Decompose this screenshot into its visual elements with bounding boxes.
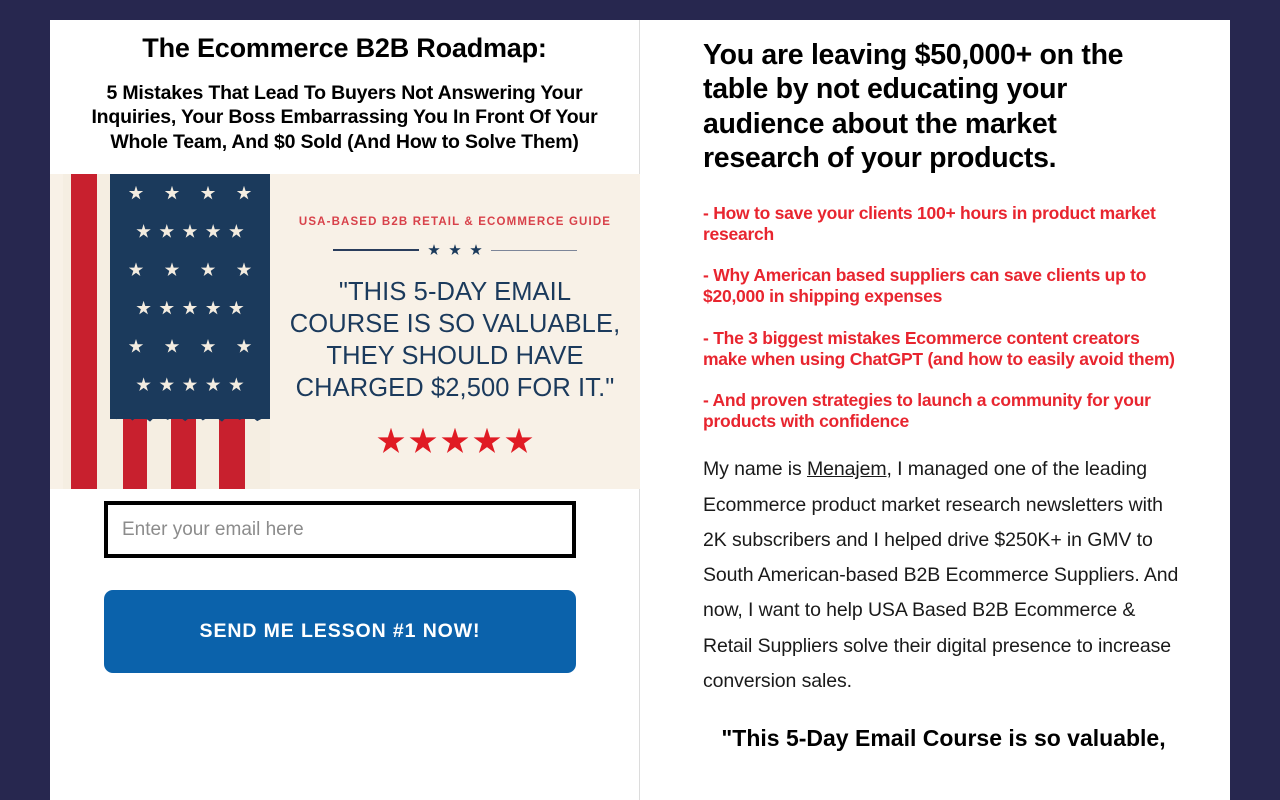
red-star-icon xyxy=(377,428,405,456)
usa-flag-icon xyxy=(63,174,270,489)
author-name-link[interactable]: Menajem xyxy=(807,458,887,480)
left-column: The Ecommerce B2B Roadmap: 5 Mistakes Th… xyxy=(50,20,640,800)
divider-line-left xyxy=(333,249,419,251)
page-title: The Ecommerce B2B Roadmap: xyxy=(68,32,621,65)
red-star-icon xyxy=(473,428,501,456)
landing-page-container: The Ecommerce B2B Roadmap: 5 Mistakes Th… xyxy=(50,20,1230,800)
hero-text-block: USA-BASED B2B RETAIL & ECOMMERCE GUIDE "… xyxy=(270,174,640,489)
headline-block: The Ecommerce B2B Roadmap: 5 Mistakes Th… xyxy=(50,20,639,154)
divider-line-right xyxy=(491,250,577,251)
hero-testimonial-graphic: USA-BASED B2B RETAIL & ECOMMERCE GUIDE "… xyxy=(50,174,640,489)
hero-divider xyxy=(282,244,628,256)
send-lesson-button[interactable]: SEND ME LESSON #1 NOW! xyxy=(104,590,576,673)
hero-kicker-label: USA-BASED B2B RETAIL & ECOMMERCE GUIDE xyxy=(282,216,628,228)
red-star-icon xyxy=(505,428,533,456)
flag-star-grid xyxy=(118,174,262,404)
value-proposition-headline: You are leaving $50,000+ on the table by… xyxy=(703,38,1184,176)
author-bio-paragraph: My name is Menajem, I managed one of the… xyxy=(703,452,1184,699)
email-input[interactable] xyxy=(104,501,576,558)
red-star-icon xyxy=(441,428,469,456)
bio-text-after-name: , I managed one of the leading Ecommerce… xyxy=(703,458,1178,692)
optin-form: SEND ME LESSON #1 NOW! xyxy=(50,501,639,673)
red-star-icon xyxy=(409,428,437,456)
right-column: You are leaving $50,000+ on the table by… xyxy=(640,20,1230,800)
navy-star-icon xyxy=(428,244,440,256)
flag-canton xyxy=(110,174,270,419)
page-subtitle: 5 Mistakes That Lead To Buyers Not Answe… xyxy=(68,81,621,154)
bottom-testimonial-quote: "This 5-Day Email Course is so valuable, xyxy=(703,724,1184,754)
bio-text-before-name: My name is xyxy=(703,458,807,480)
navy-star-icon xyxy=(449,244,461,256)
list-item: - How to save your clients 100+ hours in… xyxy=(703,203,1184,245)
benefit-bullet-list: - How to save your clients 100+ hours in… xyxy=(703,203,1184,432)
rating-stars xyxy=(282,428,628,456)
list-item: - The 3 biggest mistakes Ecommerce conte… xyxy=(703,328,1184,370)
list-item: - And proven strategies to launch a comm… xyxy=(703,390,1184,432)
navy-star-icon xyxy=(470,244,482,256)
list-item: - Why American based suppliers can save … xyxy=(703,265,1184,307)
hero-quote-text: "THIS 5-DAY EMAIL COURSE IS SO VALUABLE,… xyxy=(282,276,628,405)
